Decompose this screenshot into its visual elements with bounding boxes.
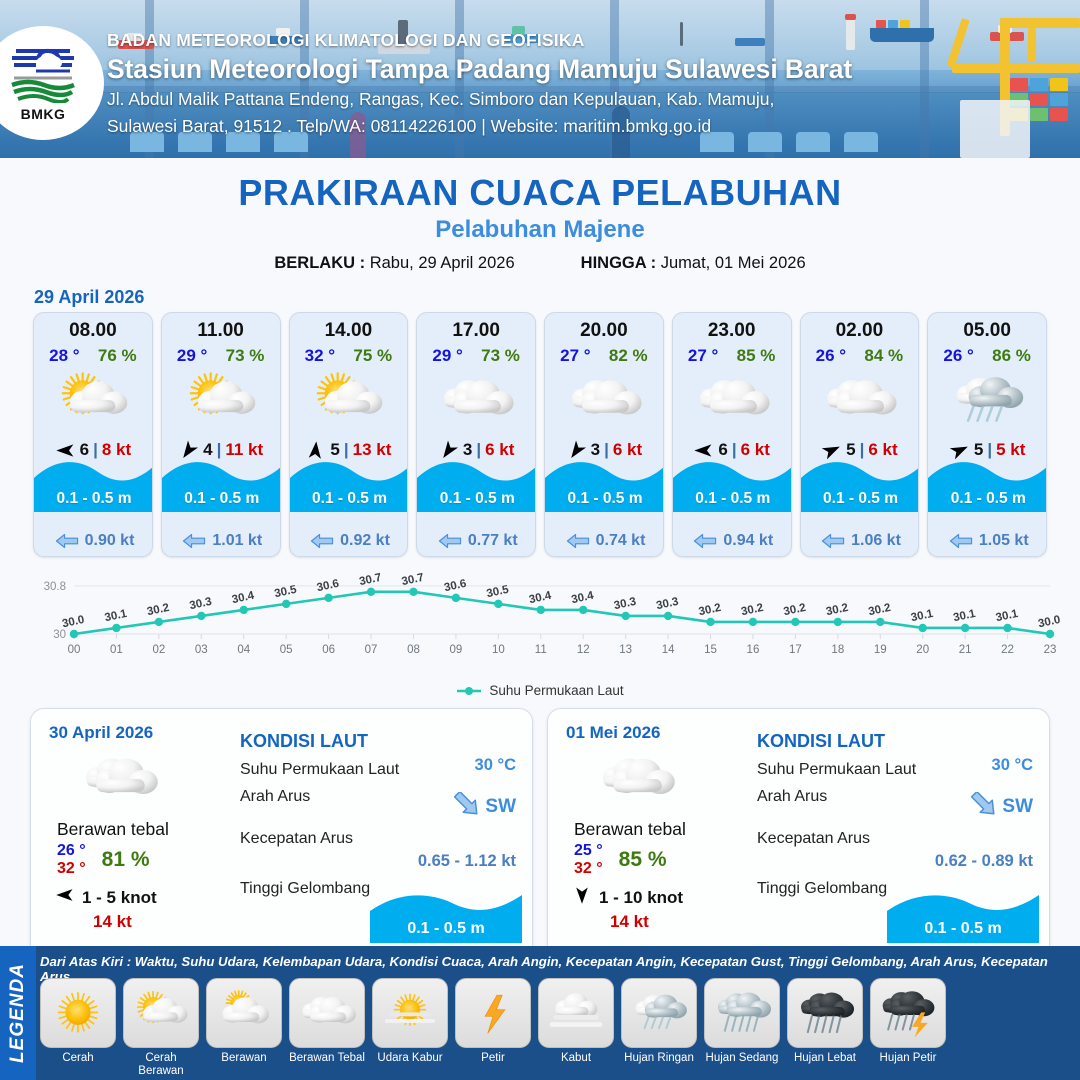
current-arrow-wrap — [967, 792, 1001, 821]
card-humidity: 86 % — [992, 346, 1031, 366]
card-temp-humidity-row: 27 °82 % — [545, 346, 663, 366]
card-current-speed: 1.06 kt — [851, 532, 901, 550]
daily-humidity: 81 % — [102, 848, 150, 872]
svg-text:30.6: 30.6 — [316, 578, 340, 594]
lighthouse-lamp — [845, 14, 856, 20]
svg-text:30.8: 30.8 — [44, 581, 66, 593]
sst-chart-svg: 30.8300001020304050607080910111213141516… — [20, 569, 1060, 681]
daily-wind-row: 1 - 10 knot — [566, 885, 753, 910]
daily-sea-conditions: KONDISI LAUTSuhu Permukaan Laut30 °CArah… — [236, 709, 532, 957]
daily-temp-humidity-row: 26 °32 °81 % — [49, 842, 236, 878]
daily-wind-direction-icon — [55, 885, 75, 905]
legend-item[interactable]: Berawan Tebal — [289, 978, 365, 1077]
daily-temp-humidity-row: 25 °32 °85 % — [566, 842, 753, 878]
container — [900, 20, 910, 28]
legend-item[interactable]: Cerah — [40, 978, 116, 1077]
sst-value: 30 °C — [992, 756, 1033, 775]
cloudy-icon — [294, 984, 360, 1042]
card-current-row: 0.74 kt — [545, 532, 664, 550]
card-current-speed: 0.77 kt — [468, 532, 518, 550]
svg-text:30.1: 30.1 — [952, 608, 977, 625]
daily-humidity: 85 % — [619, 848, 667, 872]
daily-forecast-panel[interactable]: 01 Mei 2026Berawan tebal25 °32 °85 %1 - … — [547, 708, 1050, 958]
svg-text:30.1: 30.1 — [910, 608, 935, 625]
card-wave-block: 0.1 - 0.5 m — [545, 456, 664, 512]
container — [888, 20, 898, 28]
page-title: PRAKIRAAN CUACA PELABUHAN — [0, 172, 1080, 214]
svg-text:23: 23 — [1044, 644, 1057, 656]
svg-text:06: 06 — [322, 644, 335, 656]
legend-icon-box — [289, 978, 365, 1048]
header-text-block: BADAN METEOROLOGI KLIMATOLOGI DAN GEOFIS… — [107, 30, 1047, 138]
current-speed-value: 0.62 - 0.89 kt — [757, 852, 1033, 871]
forecast-card[interactable]: 11.0029 °73 %4|11 kt0.1 - 0.5 m1.01 kt — [161, 312, 281, 557]
legend-item-label: Petir — [481, 1052, 505, 1065]
card-current-speed: 0.92 kt — [340, 532, 390, 550]
legend-icon-box — [538, 978, 614, 1048]
card-temperature: 28 ° — [49, 346, 79, 366]
card-time: 11.00 — [162, 320, 280, 342]
daily-date: 01 Mei 2026 — [566, 723, 753, 743]
card-wave-block: 0.1 - 0.5 m — [928, 456, 1047, 512]
sst-row: Suhu Permukaan Laut30 °C — [757, 752, 1033, 779]
svg-text:30.2: 30.2 — [783, 602, 807, 618]
partly-cloudy-icon — [47, 371, 139, 431]
card-temp-humidity-row: 29 °73 % — [162, 346, 280, 366]
daily-wind-range: 1 - 10 knot — [599, 888, 683, 908]
card-weather-icon-wrap — [162, 370, 280, 432]
card-wave-block: 0.1 - 0.5 m — [290, 456, 409, 512]
daily-wind-icon-wrap — [55, 885, 75, 910]
current-direction-icon — [450, 792, 484, 816]
legend-item[interactable]: Petir — [455, 978, 531, 1077]
sea-conditions-title: KONDISI LAUT — [757, 731, 1033, 752]
forecast-card[interactable]: 05.0026 °86 %5|5 kt0.1 - 0.5 m1.05 kt — [927, 312, 1047, 557]
partly-cloudy-icon — [302, 371, 394, 431]
partly-cloudy-icon — [128, 984, 194, 1042]
daily-sea-conditions: KONDISI LAUTSuhu Permukaan Laut30 °CArah… — [753, 709, 1049, 957]
daily-temp-min: 26 ° — [57, 842, 86, 860]
legend-side-tab: LEGENDA — [0, 946, 36, 1080]
card-time: 20.00 — [545, 320, 663, 342]
current-direction-icon — [967, 792, 1001, 816]
sst-chart: 30.8300001020304050607080910111213141516… — [0, 569, 1080, 681]
daily-date: 30 April 2026 — [49, 723, 236, 743]
sst-label: Suhu Permukaan Laut — [240, 761, 399, 779]
current-direction-value: SW — [485, 796, 516, 818]
card-wave-block: 0.1 - 0.5 m — [673, 456, 792, 512]
daily-temp-column: 25 °32 ° — [574, 842, 603, 878]
address-line-2: Sulawesi Barat, 91512 . Telp/WA: 0811422… — [107, 115, 1047, 139]
card-humidity: 82 % — [609, 346, 648, 366]
card-humidity: 75 % — [353, 346, 392, 366]
card-current-row: 0.90 kt — [34, 532, 153, 550]
daily-wave-value: 0.1 - 0.5 m — [370, 920, 522, 938]
legend-icon-box — [455, 978, 531, 1048]
card-wave-height: 0.1 - 0.5 m — [673, 490, 792, 508]
legend-item-label: Hujan Ringan — [624, 1052, 694, 1065]
card-temp-humidity-row: 27 °85 % — [673, 346, 791, 366]
svg-text:03: 03 — [195, 644, 208, 656]
card-current-speed: 1.01 kt — [212, 532, 262, 550]
card-time: 14.00 — [290, 320, 408, 342]
cloudy-icon — [813, 371, 905, 431]
card-time: 05.00 — [928, 320, 1046, 342]
daily-temp-max: 32 ° — [574, 860, 603, 878]
forecast-card[interactable]: 02.0026 °84 %5|6 kt0.1 - 0.5 m1.06 kt — [800, 312, 920, 557]
forecast-card[interactable]: 20.0027 °82 %3|6 kt0.1 - 0.5 m0.74 kt — [544, 312, 664, 557]
card-wave-height: 0.1 - 0.5 m — [928, 490, 1047, 508]
svg-text:20: 20 — [916, 644, 929, 656]
valid-from: BERLAKU : Rabu, 29 April 2026 — [274, 254, 514, 273]
daily-wind-range: 1 - 5 knot — [82, 888, 157, 908]
current-direction-icon — [437, 532, 463, 550]
card-wave-height: 0.1 - 0.5 m — [801, 490, 920, 508]
valid-to: HINGGA : Jumat, 01 Mei 2026 — [581, 254, 806, 273]
card-wave-block: 0.1 - 0.5 m — [34, 456, 153, 512]
svg-text:30.2: 30.2 — [867, 602, 891, 618]
card-temp-humidity-row: 28 °76 % — [34, 346, 152, 366]
card-current-speed: 0.94 kt — [723, 532, 773, 550]
svg-text:30.1: 30.1 — [995, 608, 1020, 625]
legend-item[interactable]: Berawan — [206, 978, 282, 1077]
card-wave-block: 0.1 - 0.5 m — [417, 456, 536, 512]
svg-text:13: 13 — [619, 644, 632, 656]
thunderstorm-icon — [875, 984, 941, 1042]
legend-item[interactable]: Hujan Petir — [870, 978, 946, 1077]
svg-text:30.0: 30.0 — [61, 614, 85, 630]
card-wave-block: 0.1 - 0.5 m — [162, 456, 281, 512]
svg-text:00: 00 — [68, 644, 81, 656]
card-wave-block: 0.1 - 0.5 m — [801, 456, 920, 512]
daily-wind-direction-icon — [572, 885, 592, 905]
cloudy-icon — [71, 749, 167, 811]
legend-item[interactable]: Hujan Ringan — [621, 978, 697, 1077]
card-humidity: 73 % — [481, 346, 520, 366]
card-temperature: 27 ° — [688, 346, 718, 366]
svg-text:17: 17 — [789, 644, 802, 656]
svg-text:30.1: 30.1 — [104, 608, 129, 625]
light-rain-icon — [941, 371, 1033, 431]
container — [876, 20, 886, 28]
chart-legend: Suhu Permukaan Laut — [0, 683, 1080, 698]
legend-item-label: Kabut — [561, 1052, 591, 1065]
heavy-rain-icon — [792, 984, 858, 1042]
legend-icon-box — [621, 978, 697, 1048]
validity-row: BERLAKU : Rabu, 29 April 2026 HINGGA : J… — [0, 254, 1080, 273]
legend-item[interactable]: Hujan Sedang — [704, 978, 780, 1077]
legend-icon-box — [206, 978, 282, 1048]
svg-text:30.6: 30.6 — [443, 578, 467, 594]
sea-conditions-title: KONDISI LAUT — [240, 731, 516, 752]
legend-icon-box — [123, 978, 199, 1048]
card-current-row: 1.01 kt — [162, 532, 281, 550]
svg-text:19: 19 — [874, 644, 887, 656]
current-direction-value: SW — [1002, 796, 1033, 818]
daily-wind-icon-wrap — [572, 885, 592, 910]
logo-cloud-icon — [8, 45, 78, 75]
card-current-speed: 1.05 kt — [979, 532, 1029, 550]
forecast-card-row: 08.0028 °76 %6|8 kt0.1 - 0.5 m0.90 kt11.… — [0, 312, 1080, 557]
svg-text:30.3: 30.3 — [613, 596, 637, 612]
daily-wave-block: 0.1 - 0.5 m — [887, 889, 1039, 943]
current-direction-icon — [565, 532, 591, 550]
svg-text:30.0: 30.0 — [1037, 614, 1060, 630]
current-speed-label: Kecepatan Arus — [757, 830, 1033, 848]
logo-wave-icon — [8, 75, 78, 103]
cloudy-icon — [686, 371, 778, 431]
card-humidity: 85 % — [737, 346, 776, 366]
svg-text:16: 16 — [747, 644, 760, 656]
card-time: 23.00 — [673, 320, 791, 342]
mostly-cloudy-icon — [211, 984, 277, 1042]
card-temperature: 29 ° — [177, 346, 207, 366]
svg-text:30.4: 30.4 — [528, 590, 553, 607]
card-current-row: 0.94 kt — [673, 532, 792, 550]
moderate-rain-icon — [709, 984, 775, 1042]
current-direction-icon — [692, 532, 718, 550]
svg-text:15: 15 — [704, 644, 717, 656]
legend-item-label: Hujan Lebat — [794, 1052, 856, 1065]
container — [1050, 108, 1068, 121]
card-current-speed: 0.74 kt — [596, 532, 646, 550]
current-direction-icon — [181, 532, 207, 550]
card-temp-humidity-row: 26 °86 % — [928, 346, 1046, 366]
legend-side-label: LEGENDA — [7, 963, 29, 1063]
card-current-row: 0.77 kt — [417, 532, 536, 550]
valid-from-label: BERLAKU : — [274, 254, 365, 272]
bmkg-logo-mark — [8, 45, 78, 105]
cloudy-icon — [558, 371, 650, 431]
svg-text:01: 01 — [110, 644, 123, 656]
svg-text:14: 14 — [662, 644, 675, 656]
chart-legend-label: Suhu Permukaan Laut — [489, 683, 623, 698]
daily-left-column: 30 April 2026Berawan tebal26 °32 °81 %1 … — [31, 709, 236, 957]
card-temperature: 26 ° — [943, 346, 973, 366]
cloudy-icon — [588, 749, 684, 811]
sst-value: 30 °C — [475, 756, 516, 775]
card-weather-icon-wrap — [417, 370, 535, 432]
svg-text:07: 07 — [365, 644, 378, 656]
daily-temp-max: 32 ° — [57, 860, 86, 878]
bmkg-logo-text: BMKG — [21, 106, 66, 122]
card-temperature: 27 ° — [560, 346, 590, 366]
card-weather-icon-wrap — [673, 370, 791, 432]
card-weather-icon-wrap — [290, 370, 408, 432]
svg-text:30.3: 30.3 — [655, 596, 679, 612]
current-direction-icon — [54, 532, 80, 550]
svg-text:10: 10 — [492, 644, 505, 656]
card-time: 02.00 — [801, 320, 919, 342]
valid-to-label: HINGGA : — [581, 254, 656, 272]
card-temp-humidity-row: 26 °84 % — [801, 346, 919, 366]
daily-forecast-panel[interactable]: 30 April 2026Berawan tebal26 °32 °81 %1 … — [30, 708, 533, 958]
svg-text:22: 22 — [1001, 644, 1014, 656]
cloudy-icon — [430, 371, 522, 431]
current-direction-icon — [309, 532, 335, 550]
daily-gust: 14 kt — [49, 912, 236, 932]
forecast-card[interactable]: 14.0032 °75 %5|13 kt0.1 - 0.5 m0.92 kt — [289, 312, 409, 557]
card-humidity: 84 % — [864, 346, 903, 366]
svg-text:30.4: 30.4 — [570, 590, 595, 607]
haze-icon — [377, 984, 443, 1042]
card-time: 08.00 — [34, 320, 152, 342]
card-weather-icon-wrap — [545, 370, 663, 432]
crane-jib — [1000, 18, 1080, 28]
forecast-card[interactable]: 17.0029 °73 %3|6 kt0.1 - 0.5 m0.77 kt — [416, 312, 536, 557]
daily-wind-row: 1 - 5 knot — [49, 885, 236, 910]
svg-text:21: 21 — [959, 644, 972, 656]
daily-weather-icon-wrap — [49, 749, 236, 811]
svg-text:30.4: 30.4 — [231, 590, 256, 607]
card-current-row: 0.92 kt — [290, 532, 409, 550]
svg-text:04: 04 — [237, 644, 250, 656]
agency-name: BADAN METEOROLOGI KLIMATOLOGI DAN GEOFIS… — [107, 30, 1047, 51]
address-line-1: Jl. Abdul Malik Pattana Endeng, Rangas, … — [107, 88, 1047, 112]
svg-text:30.2: 30.2 — [825, 602, 849, 618]
sunny-icon — [45, 984, 111, 1042]
partly-cloudy-icon — [175, 371, 267, 431]
station-name: Stasiun Meteorologi Tampa Padang Mamuju … — [107, 54, 1047, 85]
fog-icon — [543, 984, 609, 1042]
lightning-icon — [460, 984, 526, 1042]
card-wave-height: 0.1 - 0.5 m — [545, 490, 664, 508]
card-weather-icon-wrap — [801, 370, 919, 432]
legend-item-label: Udara Kabur — [377, 1052, 442, 1065]
legend-item-label: Berawan — [221, 1052, 266, 1065]
card-current-row: 1.06 kt — [801, 532, 920, 550]
card-wave-height: 0.1 - 0.5 m — [162, 490, 281, 508]
current-arrow-wrap — [450, 792, 484, 821]
sst-row: Suhu Permukaan Laut30 °C — [240, 752, 516, 779]
svg-text:05: 05 — [280, 644, 293, 656]
legend-item[interactable]: Hujan Lebat — [787, 978, 863, 1077]
card-wave-height: 0.1 - 0.5 m — [34, 490, 153, 508]
legend-marker-icon — [456, 686, 482, 696]
card-temperature: 26 ° — [816, 346, 846, 366]
daily-weather-icon-wrap — [566, 749, 753, 811]
daily-wave-block: 0.1 - 0.5 m — [370, 889, 522, 943]
daily-gust: 14 kt — [566, 912, 753, 932]
card-temp-humidity-row: 32 °75 % — [290, 346, 408, 366]
daily-forecast-row: 30 April 2026Berawan tebal26 °32 °81 %1 … — [0, 708, 1080, 958]
daily-left-column: 01 Mei 2026Berawan tebal25 °32 °85 %1 - … — [548, 709, 753, 957]
svg-text:30.2: 30.2 — [698, 602, 722, 618]
legend-icon-box — [372, 978, 448, 1048]
legend-item-label: Hujan Petir — [880, 1052, 937, 1065]
svg-text:30.3: 30.3 — [188, 596, 212, 612]
card-weather-icon-wrap — [34, 370, 152, 432]
current-speed-label: Kecepatan Arus — [240, 830, 516, 848]
forecast-date-label: 29 April 2026 — [34, 287, 1080, 308]
card-weather-icon-wrap — [928, 370, 1046, 432]
daily-wave-value: 0.1 - 0.5 m — [887, 920, 1039, 938]
svg-text:30.2: 30.2 — [146, 602, 170, 618]
card-wave-height: 0.1 - 0.5 m — [290, 490, 409, 508]
container — [1050, 78, 1068, 91]
current-speed-value: 0.65 - 1.12 kt — [240, 852, 516, 871]
legend-item[interactable]: Cerah Berawan — [123, 978, 199, 1077]
legend-icon-box — [870, 978, 946, 1048]
page-header: BMKG BADAN METEOROLOGI KLIMATOLOGI DAN G… — [0, 0, 1080, 158]
card-current-row: 1.05 kt — [928, 532, 1047, 550]
card-time: 17.00 — [417, 320, 535, 342]
legend-icon-box — [787, 978, 863, 1048]
legend-icon-box — [704, 978, 780, 1048]
card-current-speed: 0.90 kt — [85, 532, 135, 550]
legend-item-label: Hujan Sedang — [706, 1052, 779, 1065]
legend-item-label: Cerah — [62, 1052, 93, 1065]
legend-item[interactable]: Kabut — [538, 978, 614, 1077]
svg-text:08: 08 — [407, 644, 420, 656]
svg-text:12: 12 — [577, 644, 590, 656]
card-temperature: 32 ° — [305, 346, 335, 366]
forecast-card[interactable]: 23.0027 °85 %6|6 kt0.1 - 0.5 m0.94 kt — [672, 312, 792, 557]
card-temp-humidity-row: 29 °73 % — [417, 346, 535, 366]
daily-condition: Berawan tebal — [566, 819, 753, 840]
svg-text:30.2: 30.2 — [740, 602, 764, 618]
card-humidity: 76 % — [98, 346, 137, 366]
daily-temp-column: 26 °32 ° — [57, 842, 86, 878]
legend-item-list: CerahCerah BerawanBerawanBerawan TebalUd… — [40, 978, 1076, 1077]
daily-condition: Berawan tebal — [49, 819, 236, 840]
valid-from-value: Rabu, 29 April 2026 — [370, 254, 515, 272]
legend-item[interactable]: Udara Kabur — [372, 978, 448, 1077]
legend-item-label: Berawan Tebal — [289, 1052, 365, 1065]
svg-text:30: 30 — [53, 629, 66, 641]
page-subtitle: Pelabuhan Majene — [0, 216, 1080, 244]
valid-to-value: Jumat, 01 Mei 2026 — [661, 254, 806, 272]
legend-bar: LEGENDA Dari Atas Kiri : Waktu, Suhu Uda… — [0, 946, 1080, 1080]
container — [1050, 93, 1068, 106]
legend-icon-box — [40, 978, 116, 1048]
current-direction-icon — [948, 532, 974, 550]
legend-item-label: Cerah Berawan — [123, 1052, 199, 1077]
current-direction-icon — [820, 532, 846, 550]
svg-text:02: 02 — [152, 644, 165, 656]
sst-label: Suhu Permukaan Laut — [757, 761, 916, 779]
svg-text:11: 11 — [535, 644, 547, 656]
svg-text:18: 18 — [831, 644, 844, 656]
svg-text:09: 09 — [450, 644, 463, 656]
card-humidity: 73 % — [226, 346, 265, 366]
forecast-card[interactable]: 08.0028 °76 %6|8 kt0.1 - 0.5 m0.90 kt — [33, 312, 153, 557]
daily-temp-min: 25 ° — [574, 842, 603, 860]
card-temperature: 29 ° — [432, 346, 462, 366]
light-rain-icon — [626, 984, 692, 1042]
card-wave-height: 0.1 - 0.5 m — [417, 490, 536, 508]
